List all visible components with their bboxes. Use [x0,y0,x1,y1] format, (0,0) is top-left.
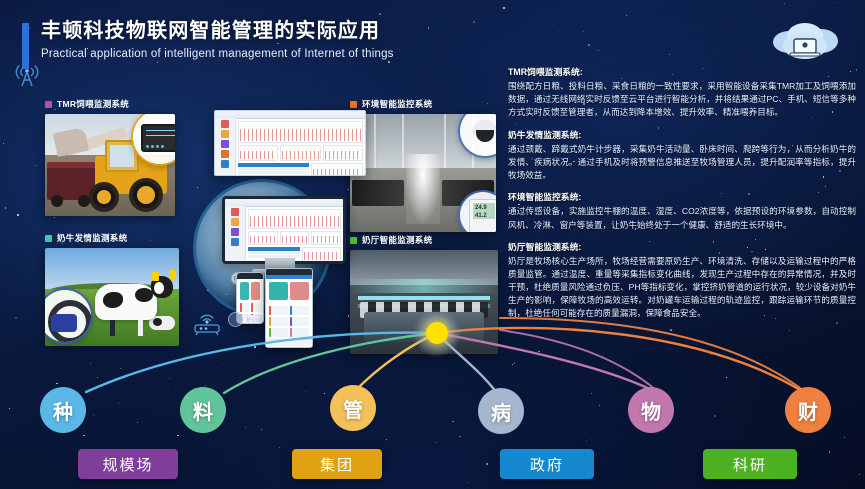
signal-tower-icon [14,60,40,88]
section-title-4: 奶厅智能监测系统: [508,241,856,254]
panel-label-text: 环境智能监控系统 [362,98,432,110]
section-title-2: 奶牛发情监测系统: [508,129,856,142]
section-body-1: 围绕配方日粮、投料日粮、采食日粮的一致性要求，采用智能设备采集TMR加工及饲喂添… [508,80,856,119]
node-circle-1[interactable]: 种 [40,387,86,433]
node-circle-2[interactable]: 料 [180,387,226,433]
central-hub-node[interactable] [426,322,448,344]
photo-tmr-loader [45,114,175,216]
photo-dairy-cow [45,248,179,346]
node-circle-4[interactable]: 病 [478,388,524,434]
wifi-router-icon [192,312,222,336]
panel-bullet-icon [350,101,357,108]
slide-header: 丰顿科技物联网智能管理的实际应用 Practical application o… [22,20,394,69]
panel-label-text: 奶牛发情监测系统 [57,232,127,244]
panel-title-environment: 环境智能监控系统 [350,98,496,110]
tag-label: 规模场 [102,454,153,475]
node-label: 物 [641,396,661,425]
slide-canvas: 丰顿科技物联网智能管理的实际应用 Practical application o… [0,0,865,489]
panel-label-text: TMR饲喂监测系统 [57,98,129,110]
pc-dashboard-window-back [214,110,366,176]
panel-title-cow: 奶牛发情监测系统 [45,232,179,244]
page-title: 丰顿科技物联网智能管理的实际应用 [41,20,394,43]
section-title-1: TMR饲喂监测系统: [508,66,856,79]
panel-label-text: 奶厅智能监测系统 [362,234,432,246]
mobile-badge-label: 移动端 [246,316,263,324]
node-label: 种 [53,396,73,425]
smartphone-large [265,268,313,348]
tag-button-4[interactable]: 科研 [703,449,797,479]
node-label: 财 [798,396,818,425]
sensor-value-temperature: 24.9 [475,204,493,212]
mobile-platform-badge: 移动端 [228,312,263,327]
panel-bullet-icon [350,237,357,244]
panel-cow-estrus: 奶牛发情监测系统 [45,232,179,346]
pc-dashboard-window-front [222,196,346,264]
section-body-2: 通过颈戴、蹄戴式奶牛计步器，采集奶牛活动量、卧床时间、爬跨等行为，从而分析奶牛的… [508,143,856,182]
description-text-block: TMR饲喂监测系统:围绕配方日粮、投料日粮、采食日粮的一致性要求，采用智能设备采… [508,66,856,329]
link-curve-pink-top [500,330,656,390]
section-body-4: 奶厅是牧场核心生产场所，牧场经营需要原奶生产、环境清洗、存储以及运输过程中的严格… [508,255,856,320]
node-label: 病 [491,397,511,426]
tag-button-3[interactable]: 政府 [500,449,594,479]
tag-label: 科研 [733,454,767,475]
cloud-server-icon [767,18,843,64]
node-circle-6[interactable]: 财 [785,387,831,433]
tag-button-2[interactable]: 集团 [292,449,382,479]
section-title-3: 环境智能监控系统: [508,191,856,204]
tag-label: 集团 [320,454,354,475]
photo-cow-barn: 24.9 41.2 [350,114,496,232]
node-label: 料 [193,396,213,425]
page-subtitle: Practical application of intelligent man… [41,48,394,60]
tag-label: 政府 [530,454,564,475]
tag-button-1[interactable]: 规模场 [78,449,178,479]
panel-environment-monitor: 环境智能监控系统 24.9 41.2 [350,98,496,232]
callout-cow-collar [45,290,91,342]
panel-title-milking: 奶厅智能监测系统 [350,234,498,246]
panel-bullet-icon [45,101,52,108]
node-circle-3[interactable]: 管 [330,385,376,431]
panel-tmr-feeding: TMR饲喂监测系统 [45,98,175,216]
panel-title-tmr: TMR饲喂监测系统 [45,98,175,110]
section-body-3: 通过传感设备，实施监控牛棚的温度、湿度、CO2浓度等，依据预设的环境参数，自动控… [508,205,856,231]
sensor-value-humidity: 41.2 [475,212,493,220]
mobile-badge-icon [228,312,243,327]
panel-bullet-icon [45,235,52,242]
node-label: 管 [343,394,363,423]
node-circle-5[interactable]: 物 [628,387,674,433]
